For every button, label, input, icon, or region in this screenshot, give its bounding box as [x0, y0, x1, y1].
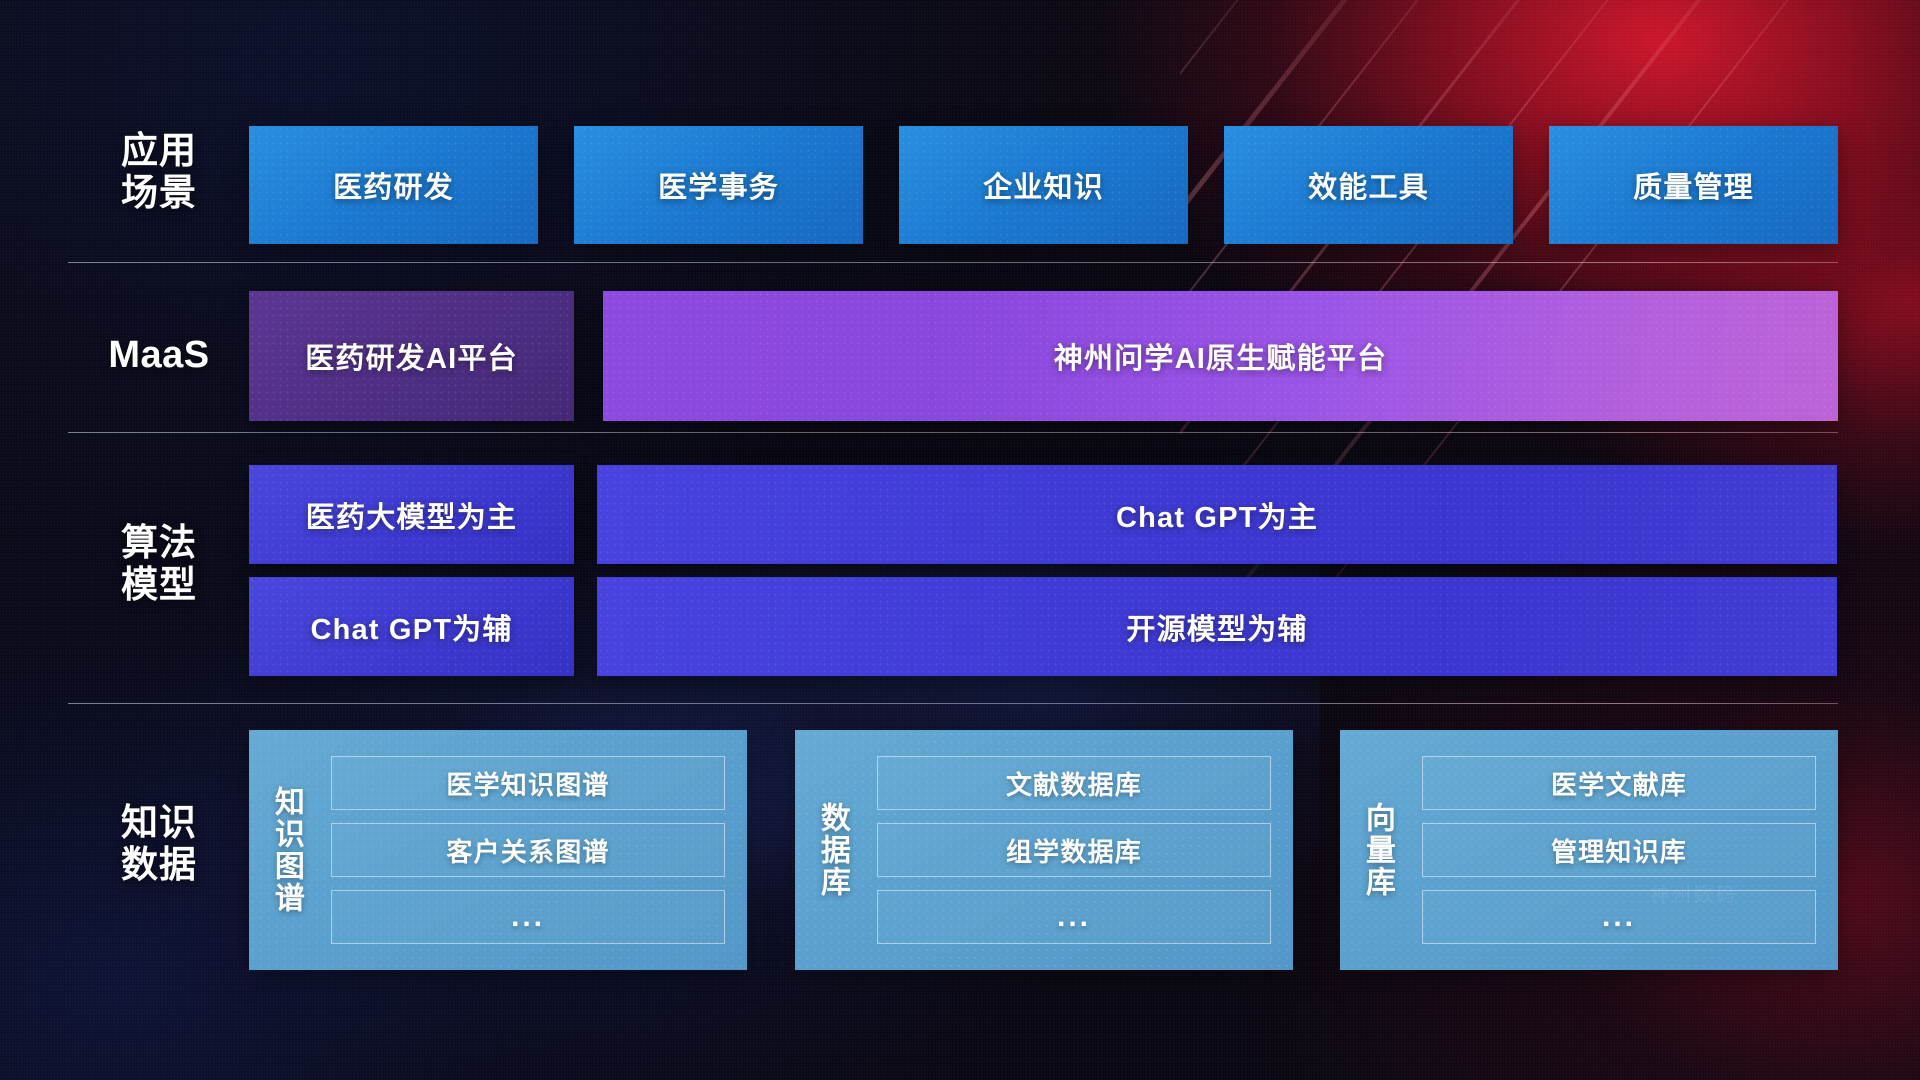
- algo-card-chatgpt-primary-label: Chat GPT为主: [1116, 494, 1318, 536]
- kitem-customer-relation-graph[interactable]: 客户关系图谱: [331, 823, 725, 877]
- maas-card-drug-rd-ai-platform[interactable]: 医药研发AI平台: [249, 291, 574, 421]
- maas-card-drug-rd-ai-platform-label: 医药研发AI平台: [305, 335, 518, 377]
- row-label-maas: MaaS: [95, 334, 223, 377]
- row-label-knowledge-data: 知识数据: [95, 802, 223, 886]
- maas-card-shenzhou-wenxue-label: 神州问学AI原生赋能平台: [1054, 335, 1387, 377]
- knowledge-group-vector-store[interactable]: 向量库 医学文献库 管理知识库 ...: [1340, 730, 1838, 970]
- kitem-omics-database[interactable]: 组学数据库: [877, 823, 1271, 877]
- kitem-more-ellipsis-db[interactable]: ...: [877, 890, 1271, 944]
- algo-card-opensource-secondary-label: 开源模型为辅: [1126, 606, 1307, 648]
- kitem-literature-database[interactable]: 文献数据库: [877, 756, 1271, 810]
- knowledge-group-database-title: 数据库: [795, 730, 869, 970]
- row-divider-1: [68, 262, 1838, 263]
- app-card-efficiency-label: 效能工具: [1308, 164, 1429, 206]
- app-card-drug-rd[interactable]: 医药研发: [249, 126, 538, 244]
- row-label-algorithm-models: 算法模型: [95, 522, 223, 606]
- knowledge-group-knowledge-graph[interactable]: 知识图谱 医学知识图谱 客户关系图谱 ...: [249, 730, 747, 970]
- algo-card-chatgpt-primary[interactable]: Chat GPT为主: [597, 465, 1837, 564]
- knowledge-group-vector-store-title: 向量库: [1340, 730, 1414, 970]
- algo-card-chatgpt-secondary-label: Chat GPT为辅: [310, 606, 512, 648]
- knowledge-group-knowledge-graph-title: 知识图谱: [249, 730, 323, 970]
- app-card-enterprise-kb-label: 企业知识: [983, 164, 1104, 206]
- row-divider-3: [68, 703, 1838, 704]
- app-card-quality-mgmt-label: 质量管理: [1633, 164, 1754, 206]
- kitem-more-ellipsis-vs[interactable]: ...: [1422, 890, 1816, 944]
- algo-card-pharma-llm-primary-label: 医药大模型为主: [306, 494, 517, 536]
- kitem-more-ellipsis-kg[interactable]: ...: [331, 890, 725, 944]
- app-card-drug-rd-label: 医药研发: [333, 164, 454, 206]
- ai-capability-stack-diagram: 应用场景 医药研发 医学事务 企业知识 效能工具 质量管理 MaaS 医药研发A…: [0, 0, 1920, 1080]
- maas-card-shenzhou-wenxue[interactable]: 神州问学AI原生赋能平台: [603, 291, 1838, 421]
- app-card-enterprise-kb[interactable]: 企业知识: [899, 126, 1188, 244]
- row-divider-2: [68, 432, 1838, 433]
- knowledge-group-database[interactable]: 数据库 文献数据库 组学数据库 ...: [795, 730, 1293, 970]
- app-card-medical-affairs-label: 医学事务: [658, 164, 779, 206]
- algo-card-chatgpt-secondary[interactable]: Chat GPT为辅: [249, 577, 574, 676]
- app-card-medical-affairs[interactable]: 医学事务: [574, 126, 863, 244]
- app-card-quality-mgmt[interactable]: 质量管理: [1549, 126, 1838, 244]
- kitem-management-knowledge-store[interactable]: 管理知识库: [1422, 823, 1816, 877]
- row-label-application-scenarios: 应用场景: [95, 130, 223, 214]
- algo-card-opensource-secondary[interactable]: 开源模型为辅: [597, 577, 1837, 676]
- knowledge-group-vector-store-items: 医学文献库 管理知识库 ...: [1414, 730, 1838, 970]
- kitem-medical-knowledge-graph[interactable]: 医学知识图谱: [331, 756, 725, 810]
- algo-card-pharma-llm-primary[interactable]: 医药大模型为主: [249, 465, 574, 564]
- app-card-efficiency[interactable]: 效能工具: [1224, 126, 1513, 244]
- slide-canvas: 应用场景 医药研发 医学事务 企业知识 效能工具 质量管理 MaaS 医药研发A…: [0, 0, 1920, 1080]
- knowledge-group-knowledge-graph-items: 医学知识图谱 客户关系图谱 ...: [323, 730, 747, 970]
- kitem-medical-literature-store[interactable]: 医学文献库: [1422, 756, 1816, 810]
- knowledge-group-database-items: 文献数据库 组学数据库 ...: [869, 730, 1293, 970]
